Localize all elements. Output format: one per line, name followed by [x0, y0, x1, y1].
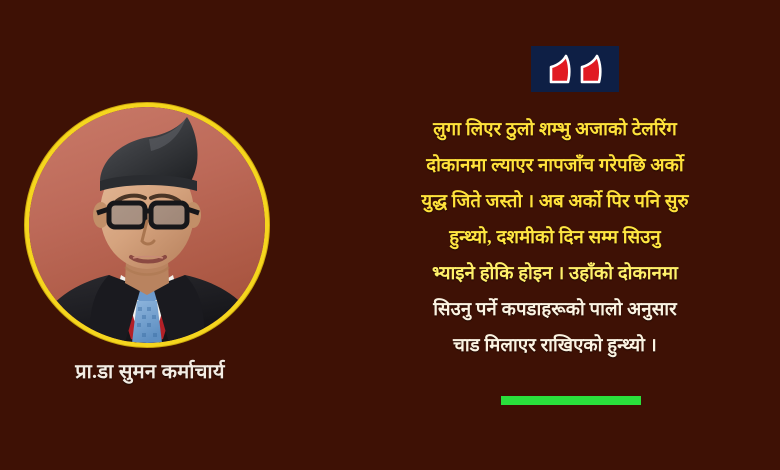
portrait-name-caption: प्रा.डा सुमन कर्माचार्य: [0, 357, 300, 384]
portrait-ring: [29, 107, 265, 343]
quote-line-2: दोकानमा ल्याएर नापजाँच गरेपछि अर्को: [342, 148, 768, 184]
portrait-photo: [29, 107, 265, 343]
quote-text: लुगा लिएर ठुलो शम्भु अजाको टेलरिंग दोकान…: [342, 112, 768, 364]
quote-block: लुगा लिएर ठुलो शम्भु अजाको टेलरिंग दोकान…: [330, 0, 780, 470]
quote-line-6: सिउनु पर्ने कपडाहरूको पालो अनुसार: [342, 292, 768, 328]
quote-line-3: युद्ध जिते जस्तो । अब अर्को पिर पनि सुरु: [342, 184, 768, 220]
double-quote-icon: [531, 46, 619, 92]
accent-bar: [501, 396, 641, 405]
quote-line-5: भ्याइने होकि होइन । उहाँको दोकानमा: [342, 256, 768, 292]
quote-card: प्रा.डा सुमन कर्माचार्य लुगा लिएर ठुलो श…: [0, 0, 780, 470]
quote-line-4: हुन्थ्यो, दशमीको दिन सम्म सिउनु: [342, 220, 768, 256]
quote-line-1: लुगा लिएर ठुलो शम्भु अजाको टेलरिंग: [342, 112, 768, 148]
portrait-block: प्रा.डा सुमन कर्माचार्य: [0, 0, 330, 470]
quote-line-7: चाड मिलाएर राखिएको हुन्थ्यो ।: [342, 328, 768, 364]
